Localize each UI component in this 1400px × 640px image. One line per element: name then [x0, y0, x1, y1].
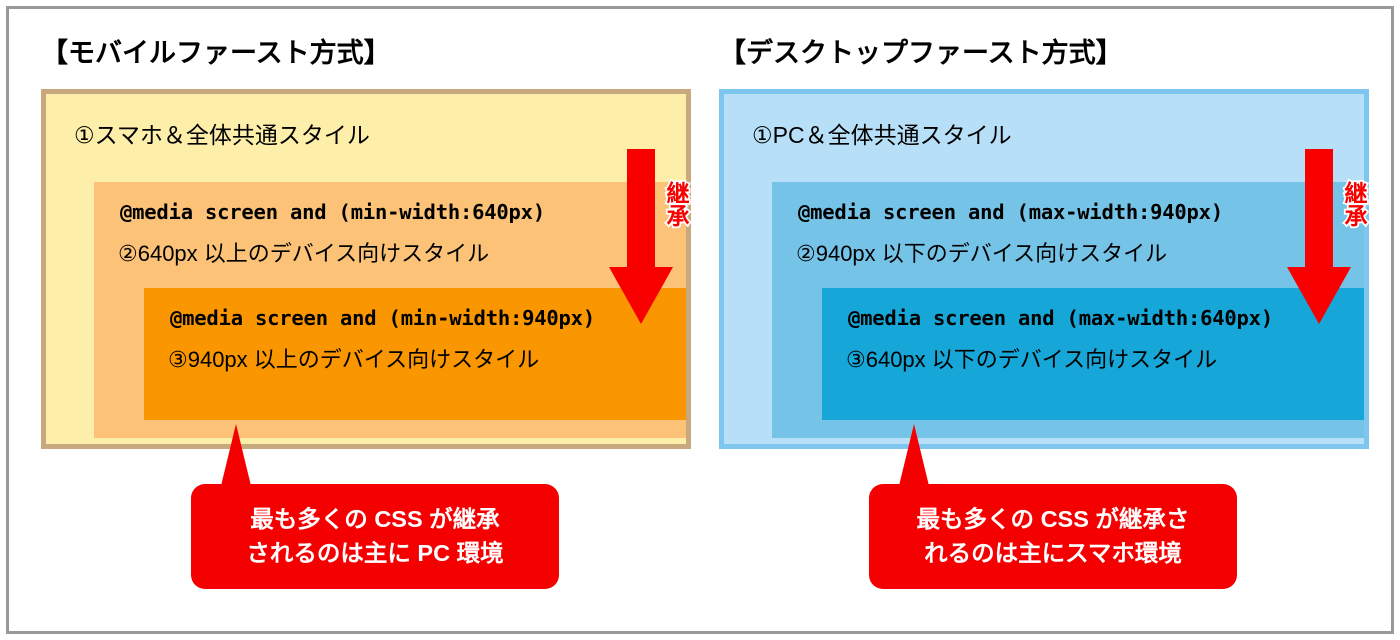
style-level-1-box-desktop: ①PC＆全体共通スタイル @media screen and (max-widt…	[719, 89, 1369, 449]
callout-text-desktop: 最も多くの CSS が継承さ れるのは主にスマホ環境	[869, 484, 1237, 589]
level-3-description-desktop: ③640px 以下のデバイス向けスタイル	[846, 342, 1217, 374]
callout-line-2-desktop: れるのは主にスマホ環境	[924, 537, 1182, 570]
callout-mobile-first: 最も多くの CSS が継承 されるのは主に PC 環境	[191, 484, 559, 589]
diagram-frame: 【モバイルファースト方式】 ①スマホ＆全体共通スタイル @media scree…	[6, 6, 1394, 634]
level-3-description-mobile: ③940px 以上のデバイス向けスタイル	[168, 342, 539, 374]
level-2-description-desktop: ②940px 以下のデバイス向けスタイル	[796, 236, 1167, 268]
panel-title-desktop-first: 【デスクトップファースト方式】	[719, 31, 1123, 70]
panel-mobile-first: 【モバイルファースト方式】 ①スマホ＆全体共通スタイル @media scree…	[31, 9, 691, 631]
callout-text-mobile: 最も多くの CSS が継承 されるのは主に PC 環境	[191, 484, 559, 589]
level-1-label-desktop: ①PC＆全体共通スタイル	[752, 116, 1012, 150]
level-2-media-query-desktop: @media screen and (max-width:940px)	[798, 200, 1223, 224]
level-1-label-mobile: ①スマホ＆全体共通スタイル	[74, 116, 370, 150]
level-2-description-mobile: ②640px 以上のデバイス向けスタイル	[118, 236, 489, 268]
style-level-1-box-mobile: ①スマホ＆全体共通スタイル @media screen and (min-wid…	[41, 89, 691, 449]
callout-desktop-first: 最も多くの CSS が継承さ れるのは主にスマホ環境	[869, 484, 1237, 589]
panel-title-mobile-first: 【モバイルファースト方式】	[41, 31, 391, 70]
level-3-media-query-mobile: @media screen and (min-width:940px)	[170, 306, 595, 330]
style-level-2-box-mobile: @media screen and (min-width:640px) ②640…	[94, 182, 686, 438]
style-level-2-box-desktop: @media screen and (max-width:940px) ②940…	[772, 182, 1364, 438]
callout-line-1-desktop: 最も多くの CSS が継承さ	[917, 503, 1190, 536]
callout-line-1-mobile: 最も多くの CSS が継承	[250, 503, 499, 536]
level-2-media-query-mobile: @media screen and (min-width:640px)	[120, 200, 545, 224]
callout-line-2-mobile: されるのは主に PC 環境	[246, 537, 503, 570]
level-3-media-query-desktop: @media screen and (max-width:640px)	[848, 306, 1273, 330]
style-level-3-box-desktop: @media screen and (max-width:640px) ③640…	[822, 288, 1364, 420]
panel-desktop-first: 【デスクトップファースト方式】 ①PC＆全体共通スタイル @media scre…	[709, 9, 1369, 631]
style-level-3-box-mobile: @media screen and (min-width:940px) ③940…	[144, 288, 686, 420]
